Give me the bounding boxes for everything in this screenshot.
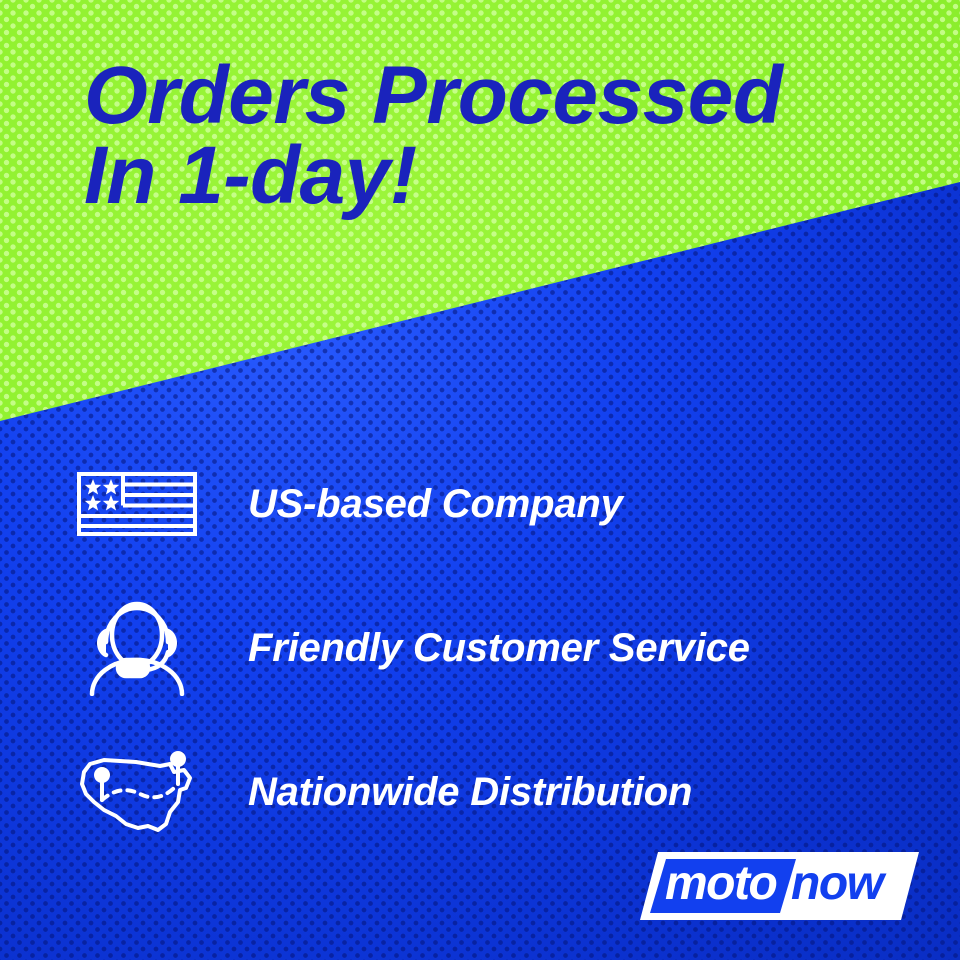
headset-support-icon	[72, 600, 202, 696]
feature-item-nationwide: Nationwide Distribution	[0, 720, 960, 864]
feature-label: Nationwide Distribution	[248, 770, 692, 815]
feature-item-customer-service: Friendly Customer Service	[0, 576, 960, 720]
promo-banner: Orders Processed In 1-day!	[0, 0, 960, 960]
logo-text-now: now	[791, 856, 882, 911]
feature-label: Friendly Customer Service	[248, 626, 750, 671]
logo-text-moto: moto	[665, 856, 776, 911]
us-flag-icon	[72, 472, 202, 536]
feature-item-us-based: US-based Company	[0, 432, 960, 576]
logo-motonow[interactable]: moto now	[640, 848, 920, 924]
feature-list: US-based Company	[0, 432, 960, 864]
feature-label: US-based Company	[248, 482, 623, 527]
page-title: Orders Processed In 1-day!	[84, 56, 914, 217]
us-map-route-icon	[72, 750, 202, 834]
